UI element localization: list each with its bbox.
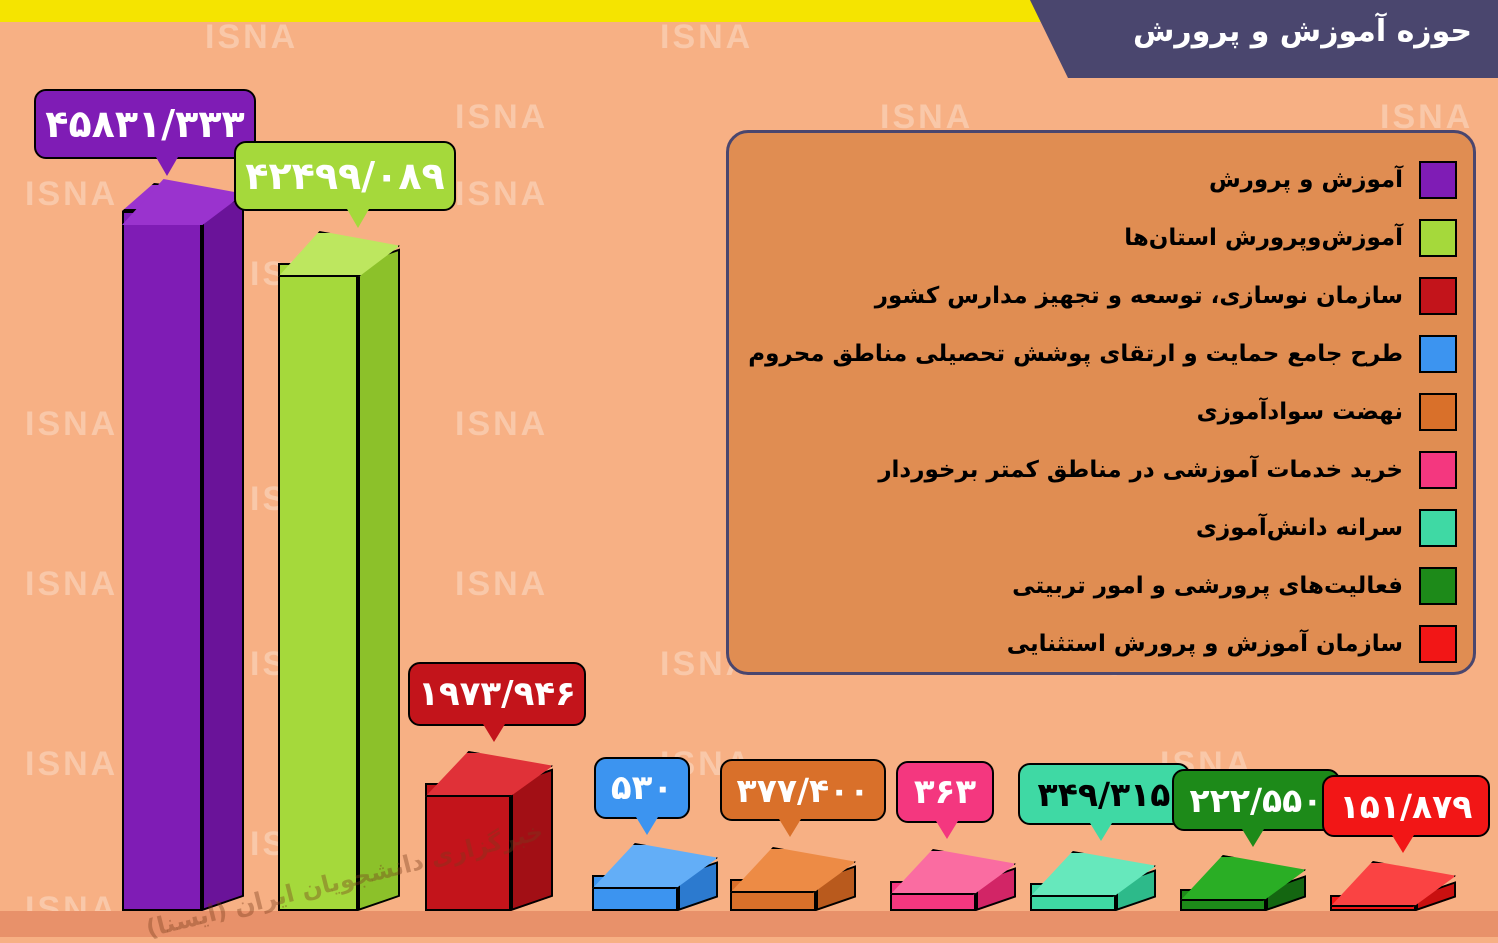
bar-side-face — [202, 197, 244, 911]
bar-group[interactable]: ۳۶۳ — [890, 796, 1020, 911]
bar-chart: ۴۵۸۳۱/۳۳۳ ۴۲۴۹۹/۰۸۹ ۱۹۷۳/۹۴۶ — [0, 31, 1498, 911]
bar-front-face — [425, 783, 511, 911]
bar-group[interactable]: ۵۳۰ — [592, 791, 722, 911]
callout-tail-icon — [1392, 835, 1414, 853]
bar-group[interactable]: ۴۲۴۹۹/۰۸۹ — [278, 221, 408, 911]
callout-tail-icon — [1090, 823, 1112, 841]
bar-3d — [122, 191, 257, 911]
callout-tail-icon — [483, 724, 505, 742]
value-callout: ۴۲۴۹۹/۰۸۹ — [234, 141, 456, 211]
value-callout: ۳۴۹/۳۱۵ — [1018, 763, 1190, 825]
callout-tail-icon — [156, 157, 178, 176]
value-label: ۱۹۷۳/۹۴۶ — [418, 674, 576, 714]
callout-tail-icon — [636, 817, 658, 835]
value-callout: ۳۶۳ — [896, 761, 994, 823]
bar-group[interactable]: ۲۲۲/۵۵۰ — [1180, 801, 1310, 911]
value-callout: ۲۲۲/۵۵۰ — [1172, 769, 1340, 831]
top-accent-bar — [0, 0, 1080, 22]
value-callout: ۵۳۰ — [594, 757, 690, 819]
callout-tail-icon — [347, 209, 369, 228]
value-label: ۵۳۰ — [611, 768, 673, 808]
callout-tail-icon — [936, 821, 958, 839]
bar-group[interactable]: ۱۹۷۳/۹۴۶ — [425, 711, 560, 911]
bar-group[interactable]: ۱۵۱/۸۷۹ — [1330, 806, 1460, 911]
value-label: ۲۲۲/۵۵۰ — [1190, 781, 1323, 820]
value-label: ۱۵۱/۸۷۹ — [1340, 787, 1473, 826]
value-label: ۳۴۹/۳۱۵ — [1038, 775, 1171, 814]
value-label: ۳۶۳ — [914, 772, 976, 812]
callout-tail-icon — [779, 819, 801, 837]
ground-strip — [0, 911, 1498, 937]
value-label: ۳۷۷/۴۰۰ — [737, 771, 870, 810]
bar-front-face — [278, 263, 358, 911]
value-callout: ۴۵۸۳۱/۳۳۳ — [34, 89, 256, 159]
value-callout: ۱۵۱/۸۷۹ — [1322, 775, 1490, 837]
value-callout: ۳۷۷/۴۰۰ — [720, 759, 886, 821]
bar-group[interactable]: ۳۴۹/۳۱۵ — [1030, 796, 1160, 911]
value-callout: ۱۹۷۳/۹۴۶ — [408, 662, 586, 726]
value-label: ۴۵۸۳۱/۳۳۳ — [45, 102, 244, 146]
bar-side-face — [358, 249, 400, 911]
callout-tail-icon — [1242, 829, 1264, 847]
bar-front-face — [122, 211, 202, 911]
bar-3d — [425, 741, 560, 911]
value-label: ۴۲۴۹۹/۰۸۹ — [245, 154, 444, 198]
bar-group[interactable]: ۳۷۷/۴۰۰ — [730, 791, 860, 911]
bar-group[interactable]: ۴۵۸۳۱/۳۳۳ — [122, 171, 257, 911]
bar-3d — [278, 241, 408, 911]
